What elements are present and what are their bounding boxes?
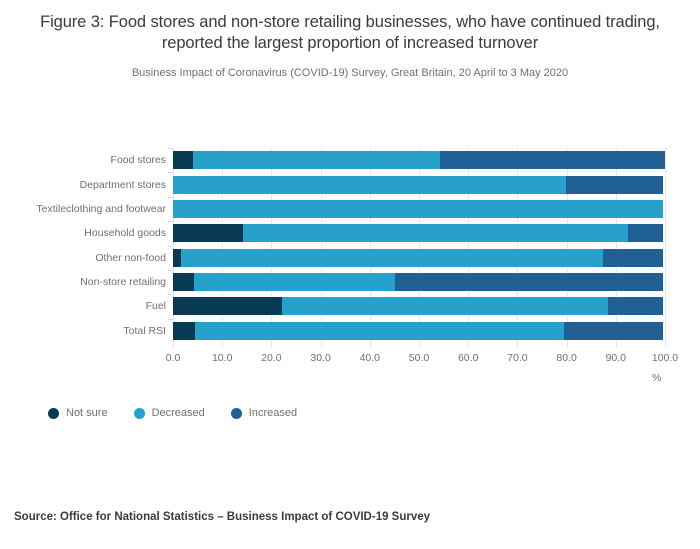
bar-segment-not-sure[interactable]: [173, 297, 282, 315]
x-axis-tick-label: 70.0: [507, 352, 527, 364]
y-axis-tick-label: Fuel: [0, 297, 166, 315]
chart-legend: Not sureDecreasedIncreased: [48, 407, 297, 419]
x-axis-tick-label: 40.0: [360, 352, 380, 364]
y-axis-tick-label: Household goods: [0, 224, 166, 242]
gridline: [665, 148, 666, 348]
plot-wrapper: Food storesDepartment storesTextilecloth…: [0, 140, 700, 365]
y-axis-tick-label: Total RSI: [0, 322, 166, 340]
y-axis-tick-label: Other non-food: [0, 249, 166, 267]
x-axis-title: %: [652, 372, 661, 384]
bar-segment-decreased[interactable]: [173, 200, 663, 218]
y-axis-labels: Food storesDepartment storesTextilecloth…: [0, 148, 166, 343]
bar-segment-not-sure[interactable]: [173, 322, 195, 340]
bar-segment-decreased[interactable]: [282, 297, 608, 315]
bar-row: [173, 200, 665, 218]
bar-segment-increased[interactable]: [564, 322, 663, 340]
x-axis-tick-label: 20.0: [261, 352, 281, 364]
bar-segment-increased[interactable]: [395, 273, 663, 291]
x-axis-labels: 0.010.020.030.040.050.060.070.080.090.01…: [0, 352, 700, 372]
source-note: Source: Office for National Statistics –…: [14, 511, 430, 523]
circle-marker-icon: [134, 408, 145, 419]
circle-marker-icon: [231, 408, 242, 419]
bar-row: [173, 273, 665, 291]
legend-item[interactable]: Increased: [231, 407, 297, 419]
legend-label: Increased: [249, 407, 297, 419]
chart-subtitle: Business Impact of Coronavirus (COVID-19…: [22, 66, 678, 80]
chart-figure: Figure 3: Food stores and non-store reta…: [0, 0, 700, 549]
y-axis-tick-label: Department stores: [0, 176, 166, 194]
circle-marker-icon: [48, 408, 59, 419]
x-axis-tick-label: 10.0: [212, 352, 232, 364]
bar-segment-increased[interactable]: [566, 176, 663, 194]
bar-row: [173, 297, 665, 315]
y-axis-tick-label: Food stores: [0, 151, 166, 169]
bar-segment-not-sure[interactable]: [173, 224, 243, 242]
y-axis-tick-label: Textileclothing and footwear: [0, 200, 166, 218]
legend-item[interactable]: Not sure: [48, 407, 108, 419]
x-axis-tick-label: 60.0: [458, 352, 478, 364]
bar-segment-decreased[interactable]: [243, 224, 628, 242]
bar-row: [173, 322, 665, 340]
x-axis-tick-label: 80.0: [556, 352, 576, 364]
bar-rows: [173, 148, 665, 343]
bar-segment-decreased[interactable]: [173, 176, 566, 194]
legend-item[interactable]: Decreased: [134, 407, 205, 419]
bar-segment-not-sure[interactable]: [173, 273, 194, 291]
page-title: Figure 3: Food stores and non-store reta…: [22, 12, 678, 54]
bar-segment-increased[interactable]: [440, 151, 665, 169]
x-axis-tick-label: 100.0: [652, 352, 678, 364]
bar-segment-decreased[interactable]: [193, 151, 440, 169]
legend-label: Not sure: [66, 407, 108, 419]
bar-segment-increased[interactable]: [628, 224, 663, 242]
bar-segment-decreased[interactable]: [195, 322, 564, 340]
bar-row: [173, 176, 665, 194]
bar-segment-increased[interactable]: [608, 297, 663, 315]
legend-label: Decreased: [152, 407, 205, 419]
y-axis-tick-label: Non-store retailing: [0, 273, 166, 291]
chart-header: Figure 3: Food stores and non-store reta…: [0, 0, 700, 81]
x-axis-tick-label: 90.0: [606, 352, 626, 364]
bar-row: [173, 151, 665, 169]
bar-segment-decreased[interactable]: [181, 249, 603, 267]
bar-segment-not-sure[interactable]: [173, 151, 193, 169]
bar-segment-decreased[interactable]: [194, 273, 395, 291]
bar-row: [173, 224, 665, 242]
bar-segment-not-sure[interactable]: [173, 249, 181, 267]
x-axis-tick-label: 0.0: [166, 352, 181, 364]
x-axis-tick-label: 50.0: [409, 352, 429, 364]
plot-area: [173, 148, 665, 343]
bar-row: [173, 249, 665, 267]
x-axis-tick-label: 30.0: [310, 352, 330, 364]
bar-segment-increased[interactable]: [603, 249, 663, 267]
